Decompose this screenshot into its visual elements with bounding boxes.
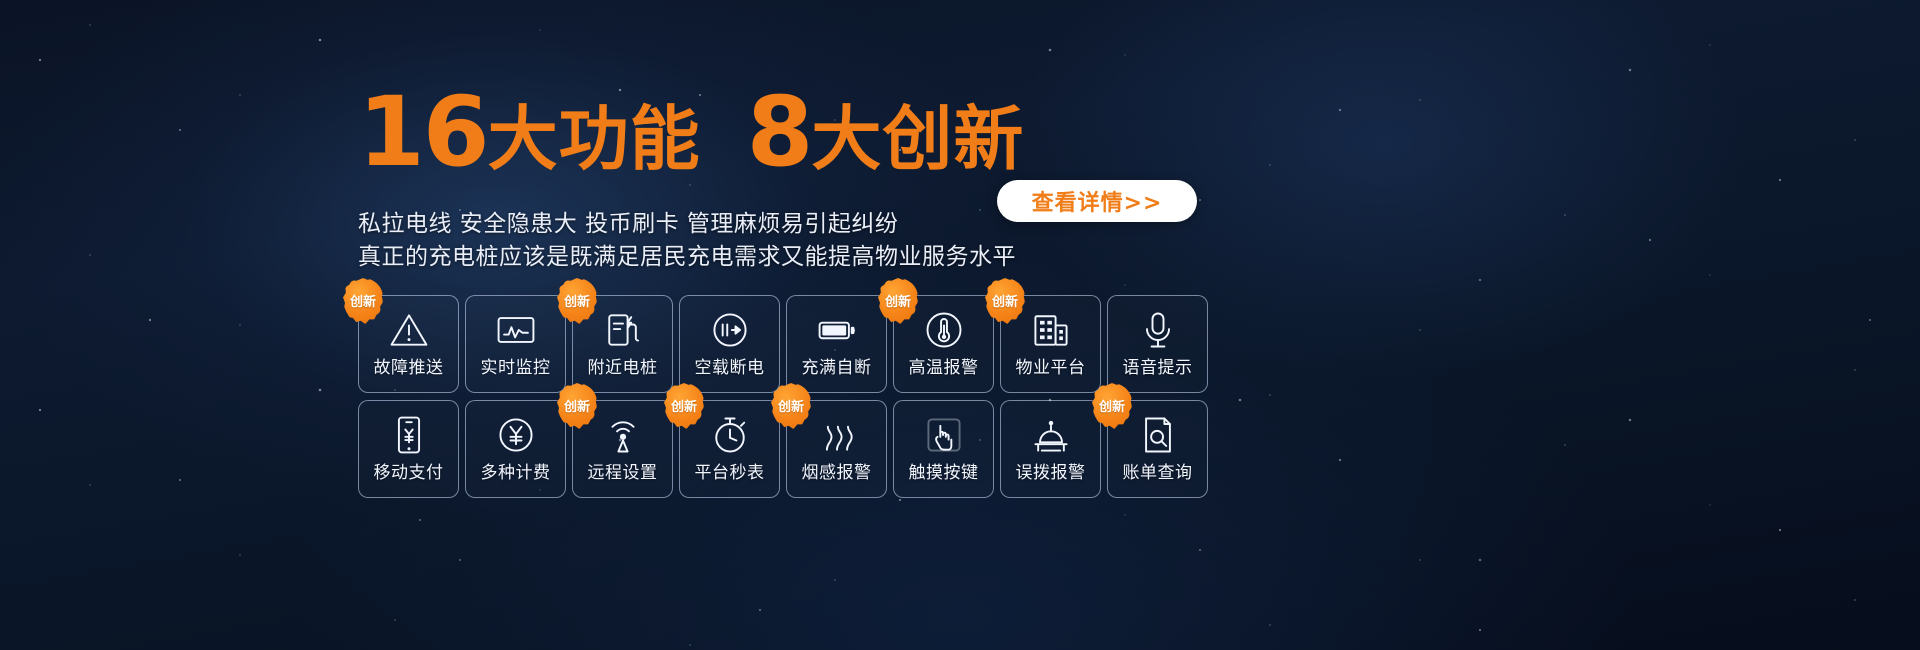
headline: 16 大功能 8 大创新 <box>358 88 1024 176</box>
feature-label: 远程设置 <box>588 465 658 482</box>
headline-number-8: 8 <box>747 88 812 176</box>
alarm-bell-icon <box>1028 412 1074 458</box>
feature-label: 触摸按键 <box>909 465 979 482</box>
feature-card-wireless-signal[interactable]: 创新远程设置 <box>572 400 673 498</box>
feature-card-charging-station[interactable]: 创新附近电桩 <box>572 295 673 393</box>
feature-label: 移动支付 <box>374 465 444 482</box>
feature-grid: 创新故障推送实时监控创新附近电桩空载断电充满自断创新高温报警创新物业平台语音提示… <box>358 295 1208 498</box>
feature-label: 充满自断 <box>802 360 872 377</box>
feature-label: 实时监控 <box>481 360 551 377</box>
feature-card-warning-triangle[interactable]: 创新故障推送 <box>358 295 459 393</box>
feature-card-thermometer[interactable]: 创新高温报警 <box>893 295 994 393</box>
feature-card-stopwatch[interactable]: 创新平台秒表 <box>679 400 780 498</box>
yuan-coin-icon <box>493 412 539 458</box>
feature-card-yuan-coin[interactable]: 多种计费 <box>465 400 566 498</box>
feature-card-touch-hand[interactable]: 触摸按键 <box>893 400 994 498</box>
feature-label: 空载断电 <box>695 360 765 377</box>
headline-text-innovations: 大创新 <box>811 104 1024 176</box>
subtitle-line-2: 真正的充电桩应该是既满足居民充电需求又能提高物业服务水平 <box>358 241 1016 274</box>
stopwatch-icon <box>707 412 753 458</box>
smoke-detector-icon <box>814 412 860 458</box>
headline-number-16: 16 <box>358 88 488 176</box>
subtitle-line-1: 私拉电线 安全隐患大 投币刷卡 管理麻烦易引起纠纷 <box>358 208 1016 241</box>
feature-label: 账单查询 <box>1123 465 1193 482</box>
mobile-payment-icon <box>386 412 432 458</box>
feature-card-smoke-detector[interactable]: 创新烟感报警 <box>786 400 887 498</box>
building-icon <box>1028 307 1074 353</box>
bill-search-icon <box>1135 412 1181 458</box>
headline-text-functions: 大功能 <box>488 104 701 176</box>
promo-banner: 16 大功能 8 大创新 私拉电线 安全隐患大 投币刷卡 管理麻烦易引起纠纷 真… <box>0 0 1920 650</box>
feature-label: 误拨报警 <box>1016 465 1086 482</box>
feature-card-microphone[interactable]: 语音提示 <box>1107 295 1208 393</box>
feature-card-battery-full[interactable]: 充满自断 <box>786 295 887 393</box>
innovation-badge-label: 创新 <box>343 277 383 323</box>
view-details-button[interactable]: 查看详情>> <box>997 180 1197 222</box>
wireless-signal-icon <box>600 412 646 458</box>
touch-hand-icon <box>921 412 967 458</box>
feature-card-bill-search[interactable]: 创新账单查询 <box>1107 400 1208 498</box>
feature-card-plug-disconnect[interactable]: 空载断电 <box>679 295 780 393</box>
feature-label: 多种计费 <box>481 465 551 482</box>
warning-triangle-icon <box>386 307 432 353</box>
thermometer-icon <box>921 307 967 353</box>
monitor-waveform-icon <box>493 307 539 353</box>
feature-label: 故障推送 <box>374 360 444 377</box>
battery-full-icon <box>814 307 860 353</box>
feature-card-alarm-bell[interactable]: 误拨报警 <box>1000 400 1101 498</box>
feature-card-mobile-payment[interactable]: 移动支付 <box>358 400 459 498</box>
plug-disconnect-icon <box>707 307 753 353</box>
feature-label: 烟感报警 <box>802 465 872 482</box>
feature-label: 附近电桩 <box>588 360 658 377</box>
banner-content: 16 大功能 8 大创新 私拉电线 安全隐患大 投币刷卡 管理麻烦易引起纠纷 真… <box>0 0 1920 650</box>
feature-card-monitor-waveform[interactable]: 实时监控 <box>465 295 566 393</box>
feature-card-building[interactable]: 创新物业平台 <box>1000 295 1101 393</box>
feature-label: 高温报警 <box>909 360 979 377</box>
feature-label: 平台秒表 <box>695 465 765 482</box>
microphone-icon <box>1135 307 1181 353</box>
feature-label: 语音提示 <box>1123 360 1193 377</box>
feature-label: 物业平台 <box>1016 360 1086 377</box>
charging-station-icon <box>600 307 646 353</box>
badge-blob-shape <box>343 278 383 324</box>
subtitle: 私拉电线 安全隐患大 投币刷卡 管理麻烦易引起纠纷 真正的充电桩应该是既满足居民… <box>358 208 1016 274</box>
innovation-badge: 创新 <box>343 278 383 324</box>
